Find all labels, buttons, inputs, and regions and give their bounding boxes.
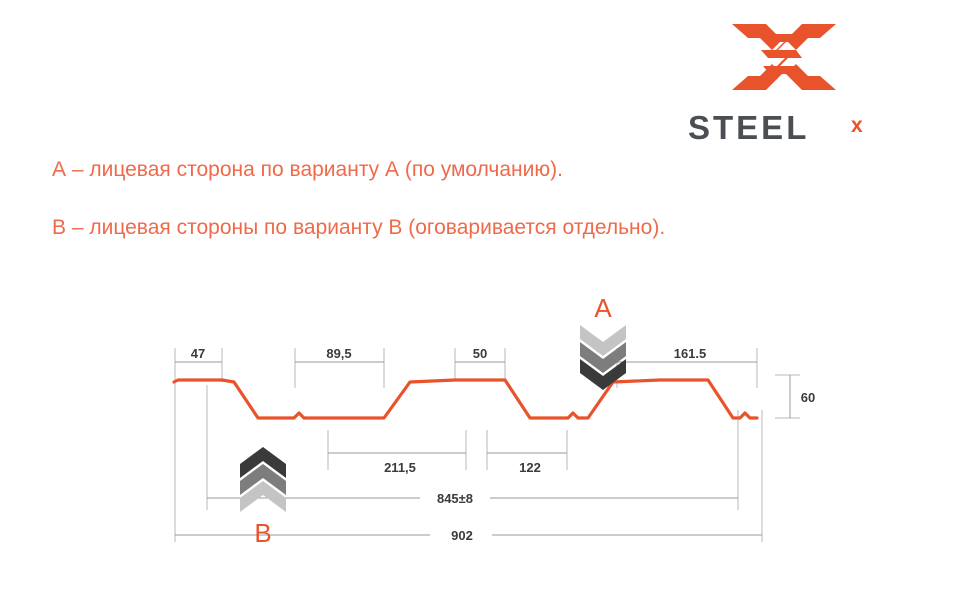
steelx-x-logo-icon [730, 18, 838, 96]
dimension-161-5-label: 161.5 [674, 346, 707, 361]
wordmark-main-text: STEEL [688, 110, 809, 146]
chevron-up-icon [240, 447, 286, 512]
note-variant-a: А – лицевая сторона по варианту А (по ум… [52, 158, 563, 182]
note-variant-b: В – лицевая стороны по варианту В (огова… [52, 216, 665, 240]
dimension-89-5: 89,5 [295, 346, 384, 362]
steel-profile-section [174, 380, 757, 418]
dimension-845: 845±8 [207, 491, 738, 506]
extension-lines [175, 348, 800, 542]
dimension-845-label: 845±8 [437, 491, 473, 506]
dimension-60: 60 [790, 375, 815, 418]
dimension-161-5: 161.5 [617, 346, 757, 362]
dimension-47: 47 [175, 346, 222, 362]
dimension-50: 50 [455, 346, 505, 362]
brand-logo: STEEL x [688, 18, 888, 143]
dimension-60-label: 60 [801, 390, 815, 405]
dimension-47-label: 47 [191, 346, 205, 361]
dimension-50-label: 50 [473, 346, 487, 361]
steelx-wordmark: STEEL x [688, 110, 888, 146]
dimension-122-label: 122 [519, 460, 541, 475]
marker-a-group: A [580, 293, 626, 390]
marker-a-letter: A [594, 293, 612, 323]
dimension-211-5: 211,5 [328, 453, 466, 475]
profile-drawing: 47 89,5 50 161.5 211,5 122 845±8 902 6 [0, 270, 970, 570]
wordmark-superscript-x: x [851, 114, 863, 137]
dimension-211-5-label: 211,5 [384, 460, 416, 475]
marker-b-letter: B [254, 518, 271, 548]
dimension-902-label: 902 [451, 528, 473, 543]
dimension-122: 122 [487, 453, 567, 475]
dimension-89-5-label: 89,5 [326, 346, 351, 361]
